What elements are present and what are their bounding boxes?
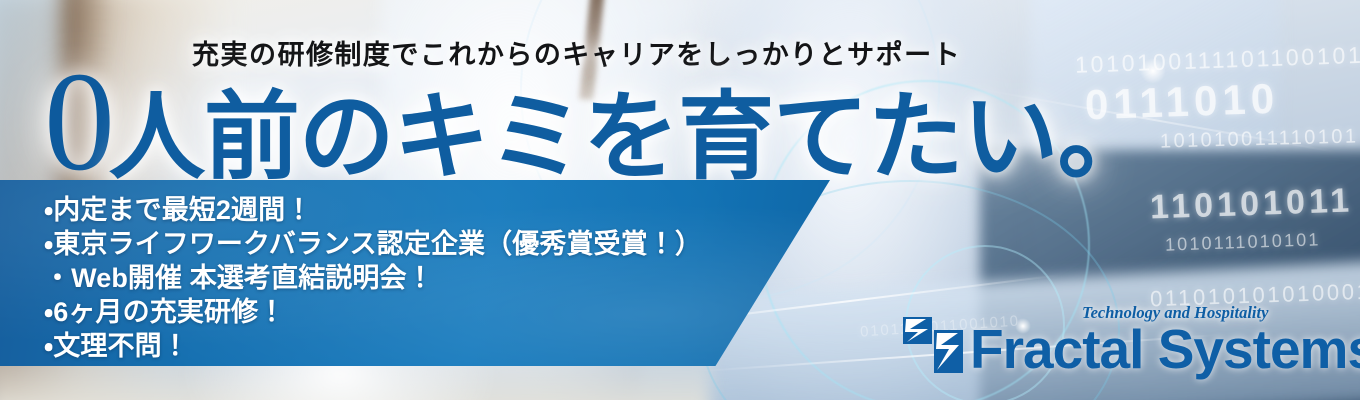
recruit-banner: 1010100111101100101110 0111010 101010011… [0,0,1360,400]
highlights-list: ・内定まで最短2週間！ ・東京ライフワークバランス認定企業（優秀賞受賞！） ・W… [44,193,804,363]
company-logo[interactable]: Technology and Hospitality Fractal Syste… [902,316,1360,377]
list-item: ・内定まで最短2週間！ [44,193,804,227]
list-item: ・6ヶ月の充実研修！ [44,295,804,329]
list-item: ・東京ライフワークバランス認定企業（優秀賞受賞！） [44,227,804,261]
list-item: ・Web開催 本選考直結説明会！ [44,261,804,295]
banner-headline: 0 人前のキミを育てたい。 [44,56,1152,187]
headline-body: 人前のキミを育てたい。 [109,89,1152,187]
logo-company-name: Fractal Systems [970,321,1360,377]
headline-zone: 充実の研修制度でこれからのキャリアをしっかりとサポート 0 人前のキミを育てたい… [0,0,1080,182]
logo-text-block: Technology and Hospitality Fractal Syste… [970,321,1360,377]
headline-numeral: 0 [44,56,115,187]
list-item: ・文理不問！ [44,329,804,363]
fractal-lightning-blocks-icon [902,316,964,374]
logo-tagline: Technology and Hospitality [1082,303,1268,323]
